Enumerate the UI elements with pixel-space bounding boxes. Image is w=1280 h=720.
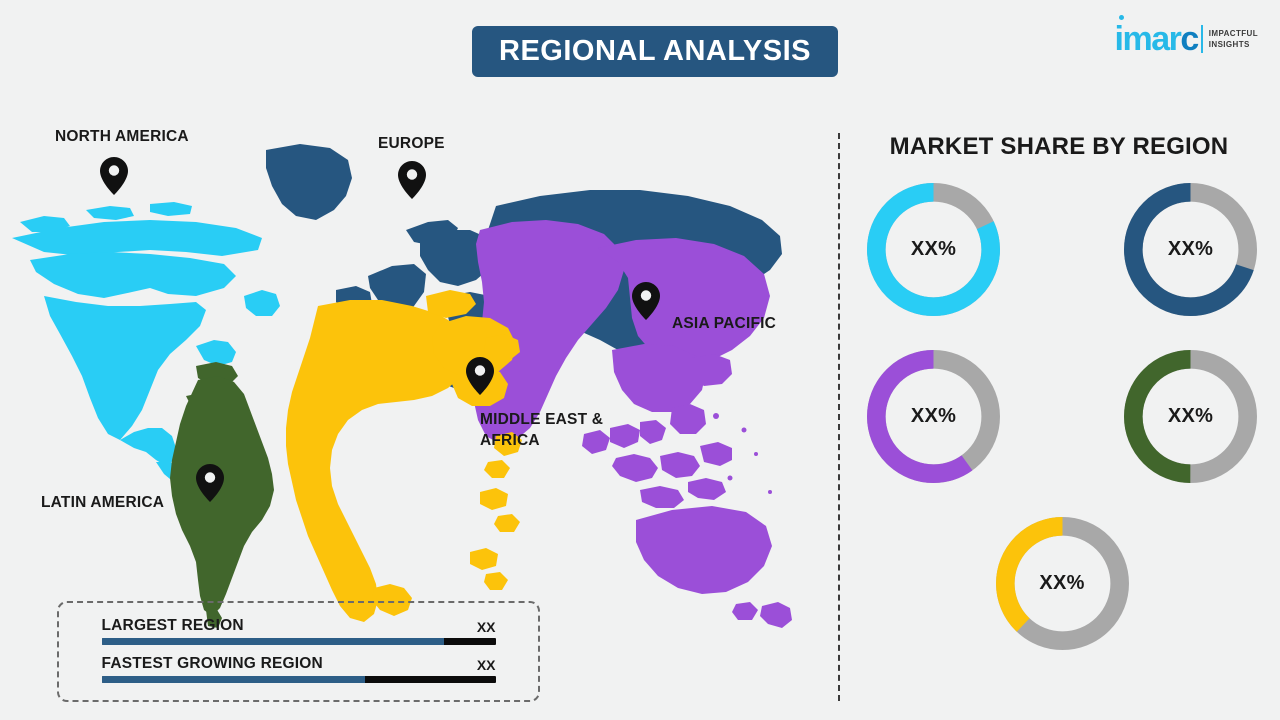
infographic-root: REGIONAL ANALYSIS imarc IMPACTFUL INSIGH… xyxy=(0,0,1280,720)
donut-label-middle-east-africa: XX% xyxy=(991,512,1134,655)
page-title-banner: REGIONAL ANALYSIS xyxy=(472,26,838,77)
legend-row-largest-region: LARGEST REGION XX xyxy=(102,617,496,645)
logo-dot-icon xyxy=(1119,15,1124,20)
map-region-greenland xyxy=(266,144,352,220)
logo-tagline: IMPACTFUL INSIGHTS xyxy=(1209,28,1258,50)
donut-row-3: XX% xyxy=(862,512,1262,655)
imarc-logo: imarc IMPACTFUL INSIGHTS xyxy=(1115,18,1258,60)
donut-chart-europe: XX% xyxy=(1119,178,1262,321)
legend-value-fastest-growing-region: XX xyxy=(477,657,496,673)
region-summary-box: LARGEST REGION XX FASTEST GROWING REGION… xyxy=(57,601,540,702)
donut-chart-asia-pacific: XX% xyxy=(862,345,1005,488)
map-pin-europe-icon xyxy=(398,161,426,199)
map-label-europe: EUROPE xyxy=(378,133,445,154)
map-label-asia-pacific: ASIA PACIFIC xyxy=(672,313,776,334)
map-label-middle-east-africa: MIDDLE EAST & AFRICA xyxy=(480,409,603,451)
donut-row-2: XX% XX% xyxy=(862,345,1262,488)
legend-label-fastest-growing-region: FASTEST GROWING REGION xyxy=(102,655,323,673)
page-title: REGIONAL ANALYSIS xyxy=(499,35,811,68)
legend-value-largest-region: XX xyxy=(477,619,496,635)
logo-divider xyxy=(1201,25,1203,53)
donut-chart-grid: XX% XX% XX% XX% XX% xyxy=(862,178,1262,679)
donut-chart-north-america: XX% xyxy=(862,178,1005,321)
legend-bar-fill-fastest-growing-region xyxy=(102,676,366,683)
map-pin-asia-pacific-icon xyxy=(632,282,660,320)
map-label-latin-america: LATIN AMERICA xyxy=(41,492,164,513)
map-pin-north-america-icon xyxy=(100,157,128,195)
map-label-north-america: NORTH AMERICA xyxy=(55,126,189,147)
map-pin-latin-america-icon xyxy=(196,464,224,502)
logo-tagline-line1: IMPACTFUL xyxy=(1209,28,1258,39)
logo-wordmark: imarc xyxy=(1115,22,1198,56)
donut-label-north-america: XX% xyxy=(862,178,1005,321)
donut-chart-latin-america: XX% xyxy=(1119,345,1262,488)
donut-chart-middle-east-africa: XX% xyxy=(991,512,1134,655)
map-pin-middle-east-africa-icon xyxy=(466,357,494,395)
legend-row-fastest-growing-region: FASTEST GROWING REGION XX xyxy=(102,655,496,683)
map-region-middle-east-africa xyxy=(286,290,522,622)
logo-tagline-line2: INSIGHTS xyxy=(1209,39,1258,50)
donut-label-asia-pacific: XX% xyxy=(862,345,1005,488)
legend-bar-fastest-growing-region xyxy=(102,676,496,683)
donut-label-latin-america: XX% xyxy=(1119,345,1262,488)
panel-divider xyxy=(838,133,840,701)
donut-label-europe: XX% xyxy=(1119,178,1262,321)
legend-bar-largest-region xyxy=(102,638,496,645)
donut-row-1: XX% XX% xyxy=(862,178,1262,321)
legend-bar-fill-largest-region xyxy=(102,638,445,645)
logo-word-primary: imar xyxy=(1115,20,1181,58)
legend-label-largest-region: LARGEST REGION xyxy=(102,617,244,635)
panel-title-market-share: MARKET SHARE BY REGION xyxy=(838,133,1280,161)
logo-word-accent: c xyxy=(1180,20,1197,58)
